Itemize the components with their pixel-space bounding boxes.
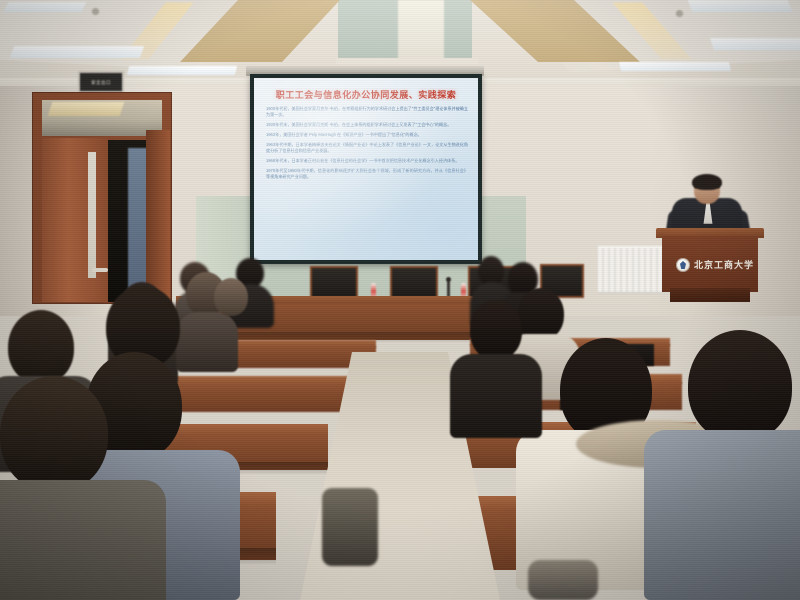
ceiling-light-panel <box>710 38 800 50</box>
backpack-on-floor <box>322 488 378 566</box>
podium-institution-label: 北京工商大学 <box>694 259 752 272</box>
door-handle[interactable] <box>92 268 108 272</box>
slide-body: 1900年代初，美国社会学家月克尔·韦伯，在考察组织行为的学术研讨会上提出了"劳… <box>266 106 468 254</box>
slide-paragraph: 1968年代末，日本学者正村公宏在《信息社会的社会学》一书中首次把信息技术产业化… <box>266 158 468 164</box>
slide-title: 职工工会与信息化办公协同发展、实践探索 <box>260 88 472 101</box>
door-transom-glare <box>48 102 125 116</box>
door-leaf-left[interactable] <box>42 138 108 302</box>
speaker-hair <box>692 174 722 190</box>
ceiling-light-panel <box>619 62 731 71</box>
door-vision-panel <box>88 152 96 278</box>
slide-paragraph: 1930年代末，美国社会学家月克斯·韦伯，在会上体系的组织学术研讨会上又发表了"… <box>266 122 468 128</box>
university-crest-icon <box>676 258 690 272</box>
slide-paragraph: 1970年代至1980年代中期，信息化的影响逐步扩大到社会各个领域，形成了新的研… <box>266 168 468 180</box>
ceiling-light-panel <box>688 0 793 12</box>
projection-screen-frame: 职工工会与信息化办公协同发展、实践探索 1900年代初，美国社会学家月克尔·韦伯… <box>250 74 482 264</box>
sprinkler-icon <box>676 10 683 16</box>
handbag <box>528 560 598 600</box>
ceiling-light-panel <box>127 66 237 75</box>
panel-chair <box>310 266 358 300</box>
panel-chair <box>390 266 438 300</box>
lecture-hall-photo: 安全出口 职工工会与信息化办公协同发展、实践探索 1900年代初，美国社会学家月… <box>0 0 800 600</box>
sprinkler-icon <box>92 8 99 14</box>
ceiling-light-panel <box>4 2 87 12</box>
door-leaf-open[interactable] <box>146 130 170 302</box>
podium-base <box>670 288 750 302</box>
exit-sign: 安全出口 <box>78 71 124 93</box>
slide-paragraph: 1963年代中期，日本学者梅棹忠夫在论文《情报产业论》中论上发表了《信息产业论》… <box>266 142 468 154</box>
projection-screen-surface: 职工工会与信息化办公协同发展、实践探索 1900年代初，美国社会学家月克尔·韦伯… <box>254 78 478 260</box>
slide-paragraph: 1900年代初，美国社会学家月克尔·韦伯，在考察组织行为的学术研讨会上提出了"劳… <box>266 106 468 118</box>
ceiling-light-panel <box>10 46 144 58</box>
ceiling-center-highlight <box>398 0 444 60</box>
ceiling-center-edge <box>336 58 478 64</box>
slide-paragraph: 1962年，美国社会学者 Pelp MacHugh 在《知识产业》一书中提出了"… <box>266 132 468 138</box>
exit-sign-label: 安全出口 <box>91 79 111 85</box>
